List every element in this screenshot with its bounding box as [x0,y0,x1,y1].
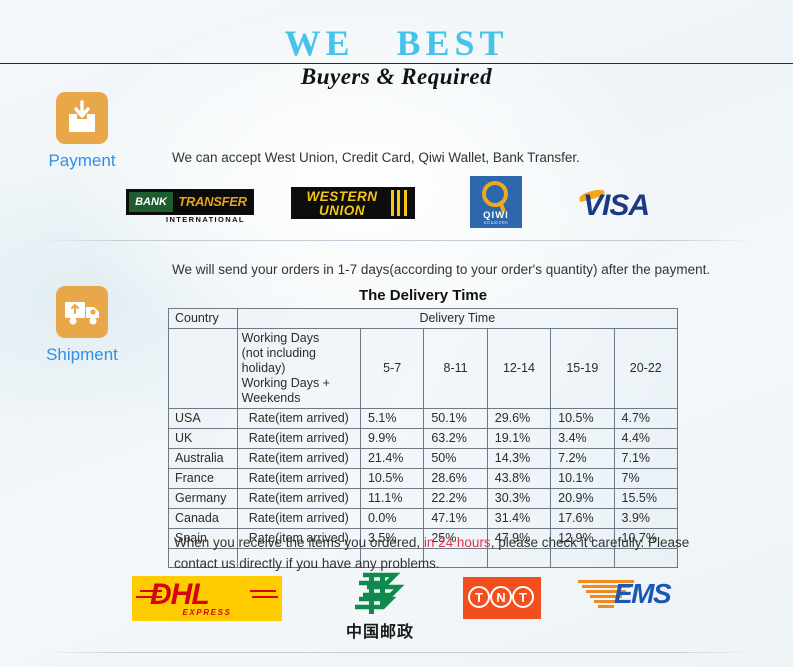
table-header-country: Country [169,309,238,329]
table-cell-rate-label: Rate(item arrived) [237,469,360,489]
qiwi-logo-q-circle [482,181,508,207]
table-cell-rate-label: Rate(item arrived) [237,429,360,449]
table-cell-rate-value: 4.4% [614,429,677,449]
table-cell-country: Australia [169,449,238,469]
delivery-truck-icon [56,286,108,338]
delivery-time-table: CountryDelivery TimeWorking Days(not inc… [168,308,678,568]
table-row: CanadaRate(item arrived)0.0%47.1%31.4%17… [169,509,678,529]
carrier-logo-row: DHL EXPRESS 中国邮政 [120,568,680,642]
dhl-logo-stripe [250,590,276,592]
table-cell-rate-value: 10.5% [360,469,423,489]
table-cell-rate-value: 22.2% [424,489,487,509]
delivery-table-title: The Delivery Time [168,287,678,304]
table-cell-rate-value: 0.0% [360,509,423,529]
table-row: AustraliaRate(item arrived)21.4%50%14.3%… [169,449,678,469]
table-cell-rate-value: 31.4% [487,509,550,529]
table-cell-rate-value: 50% [424,449,487,469]
table-header-day-range: 15-19 [551,329,614,409]
table-cell-country: UK [169,429,238,449]
visa-logo: VISA [575,189,695,223]
table-cell-rate-label: Rate(item arrived) [237,449,360,469]
qiwi-logo: QIWI КОШЕЛЕК [470,176,522,228]
page-header: WE BEST Buyers & Required [0,0,793,96]
table-cell-rate-value: 11.1% [360,489,423,509]
shipment-label: Shipment [27,345,137,365]
table-cell-rate-value: 21.4% [360,449,423,469]
table-subheader-workdays: Working Days(not including holiday)Worki… [237,329,360,409]
table-header-day-range: 5-7 [360,329,423,409]
western-union-logo-word2: UNION [296,203,388,218]
page-subtitle: Buyers & Required [0,64,793,90]
tnt-logo-letter: T [512,586,534,608]
table-header-delivery-time: Delivery Time [237,309,677,329]
table-cell-rate-value: 5.1% [360,409,423,429]
payment-icon-block: Payment [27,92,137,171]
page-root: WE BEST Buyers & Required Payment We can… [0,0,793,667]
table-cell-rate-value: 30.3% [487,489,550,509]
dhl-logo-stripe [252,596,278,598]
payment-description: We can accept West Union, Credit Card, Q… [172,150,580,165]
china-post-logo-mark [347,570,409,616]
table-cell-rate-value: 7.1% [614,449,677,469]
table-header-row: CountryDelivery Time [169,309,678,329]
table-cell-rate-value: 17.6% [551,509,614,529]
table-cell-rate-value: 50.1% [424,409,487,429]
table-cell-rate-value: 20.9% [551,489,614,509]
tnt-logo: T N T [463,577,541,619]
table-row: UKRate(item arrived)9.9%63.2%19.1%3.4%4.… [169,429,678,449]
table-header-day-range: 12-14 [487,329,550,409]
tnt-logo-letter: T [468,586,490,608]
table-cell-rate-value: 19.1% [487,429,550,449]
inspection-note-highlight: in 24 hours [424,535,491,550]
payment-label: Payment [27,151,137,171]
table-cell-rate-value: 15.5% [614,489,677,509]
table-row: GermanyRate(item arrived)11.1%22.2%30.3%… [169,489,678,509]
table-row: FranceRate(item arrived)10.5%28.6%43.8%1… [169,469,678,489]
western-union-logo-bars [391,190,409,216]
shipment-lead-text: We will send your orders in 1-7 days(acc… [172,262,710,277]
bank-transfer-logo-sub: INTERNATIONAL [166,215,245,224]
table-cell-rate-value: 3.9% [614,509,677,529]
payment-logo-row: BANK TRANSFER INTERNATIONAL WESTERN UNIO… [120,182,680,230]
dhl-logo-text: DHL [150,578,209,612]
china-post-logo: 中国邮政 [325,570,435,640]
table-row: USARate(item arrived)5.1%50.1%29.6%10.5%… [169,409,678,429]
table-cell-rate-value: 14.3% [487,449,550,469]
table-subheader-row: Working Days(not including holiday)Worki… [169,329,678,409]
ems-logo: EMS [578,578,698,618]
table-cell-rate-value: 63.2% [424,429,487,449]
table-cell-country: USA [169,409,238,429]
dhl-logo-sub: EXPRESS [132,608,282,617]
bank-transfer-logo-word2: TRANSFER [174,192,251,212]
tnt-logo-letter: N [490,586,512,608]
page-title: WE BEST [0,24,793,62]
table-cell-country: France [169,469,238,489]
western-union-logo: WESTERN UNION [291,187,415,219]
western-union-logo-word1: WESTERN [296,189,388,204]
bank-transfer-logo: BANK TRANSFER [126,189,254,215]
table-cell-rate-label: Rate(item arrived) [237,489,360,509]
table-cell-rate-value: 7% [614,469,677,489]
inbox-download-icon [56,92,108,144]
inspection-note-part1: When you receive the items you ordered, [174,535,424,550]
table-cell-rate-value: 3.4% [551,429,614,449]
table-header-day-range: 8-11 [424,329,487,409]
shipment-section: Shipment We will send your orders in 1-7… [0,240,793,652]
table-cell-country: Germany [169,489,238,509]
table-cell-country: Canada [169,509,238,529]
table-cell-rate-label: Rate(item arrived) [237,409,360,429]
table-header-day-range: 20-22 [614,329,677,409]
table-cell-rate-value: 29.6% [487,409,550,429]
shipment-icon-block: Shipment [27,286,137,365]
section-divider-bottom [40,652,753,653]
qiwi-logo-sub: КОШЕЛЕК [470,220,522,225]
table-cell-rate-value: 10.5% [551,409,614,429]
bank-transfer-logo-word1: BANK [129,192,173,212]
visa-logo-text: VISA [583,189,649,223]
table-cell-rate-value: 47.1% [424,509,487,529]
table-cell-rate-value: 10.1% [551,469,614,489]
table-cell-rate-value: 28.6% [424,469,487,489]
table-cell-rate-value: 4.7% [614,409,677,429]
payment-section: Payment We can accept West Union, Credit… [0,90,793,240]
table-cell-rate-value: 9.9% [360,429,423,449]
table-cell-rate-label: Rate(item arrived) [237,509,360,529]
ems-logo-text: EMS [614,578,670,610]
table-cell-rate-value: 7.2% [551,449,614,469]
table-cell-rate-value: 43.8% [487,469,550,489]
china-post-logo-text: 中国邮政 [325,618,435,642]
table-subheader-blank [169,329,238,409]
dhl-logo: DHL EXPRESS [132,576,282,621]
